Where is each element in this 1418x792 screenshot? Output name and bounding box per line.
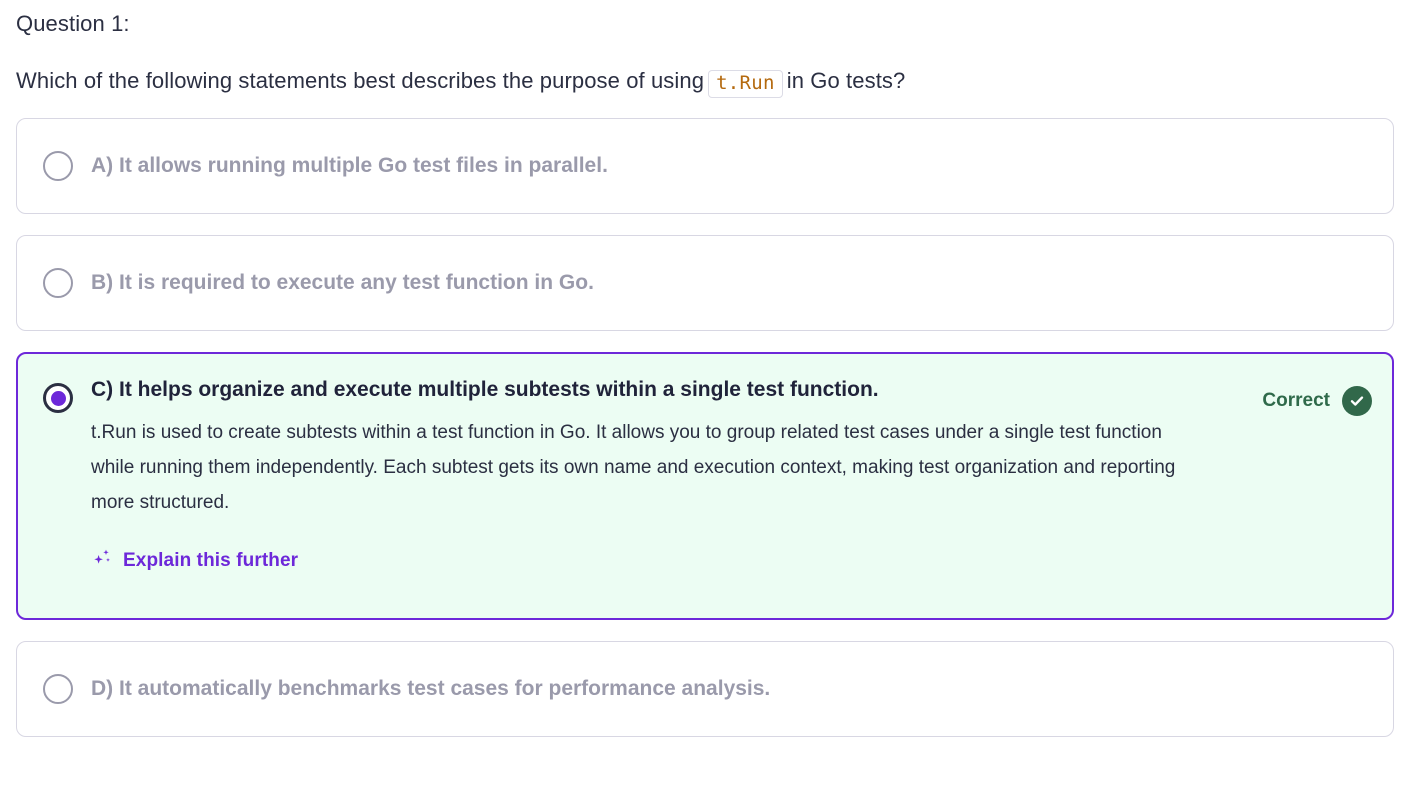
answer-option-a-label: A) It allows running multiple Go test fi… <box>91 154 1373 178</box>
code-chip-trun: t.Run <box>708 70 783 98</box>
answer-option-c-label: C) It helps organize and execute multipl… <box>91 378 1238 402</box>
correct-status-badge: Correct <box>1262 386 1372 416</box>
question-number-label: Question 1: <box>16 0 1402 35</box>
correct-badge-label: Correct <box>1262 390 1330 412</box>
radio-unchecked-icon[interactable] <box>43 674 73 704</box>
explain-this-further-button[interactable]: Explain this further <box>91 547 298 574</box>
answer-options-list: A) It allows running multiple Go test fi… <box>16 118 1402 737</box>
explain-this-further-label: Explain this further <box>123 550 298 572</box>
question-text-before: Which of the following statements best d… <box>16 68 704 93</box>
radio-checked-icon[interactable] <box>43 383 73 413</box>
answer-option-c-selected[interactable]: C) It helps organize and execute multipl… <box>16 352 1394 620</box>
question-text-after: in Go tests? <box>787 68 906 93</box>
answer-option-d-body: D) It automatically benchmarks test case… <box>91 677 1373 701</box>
answer-explanation-text: t.Run is used to create subtests within … <box>91 415 1181 520</box>
answer-option-a[interactable]: A) It allows running multiple Go test fi… <box>16 118 1394 214</box>
answer-option-c-body: C) It helps organize and execute multipl… <box>91 378 1238 574</box>
answer-option-d-label: D) It automatically benchmarks test case… <box>91 677 1373 701</box>
check-circle-icon <box>1342 386 1372 416</box>
quiz-question-panel: Question 1: Which of the following state… <box>0 0 1418 792</box>
answer-option-b-body: B) It is required to execute any test fu… <box>91 271 1373 295</box>
answer-option-a-body: A) It allows running multiple Go test fi… <box>91 154 1373 178</box>
question-prompt: Which of the following statements best d… <box>16 35 1402 97</box>
radio-unchecked-icon[interactable] <box>43 268 73 298</box>
radio-unchecked-icon[interactable] <box>43 151 73 181</box>
answer-option-d[interactable]: D) It automatically benchmarks test case… <box>16 641 1394 737</box>
answer-option-b-label: B) It is required to execute any test fu… <box>91 271 1373 295</box>
answer-option-b[interactable]: B) It is required to execute any test fu… <box>16 235 1394 331</box>
sparkles-icon <box>91 547 113 574</box>
